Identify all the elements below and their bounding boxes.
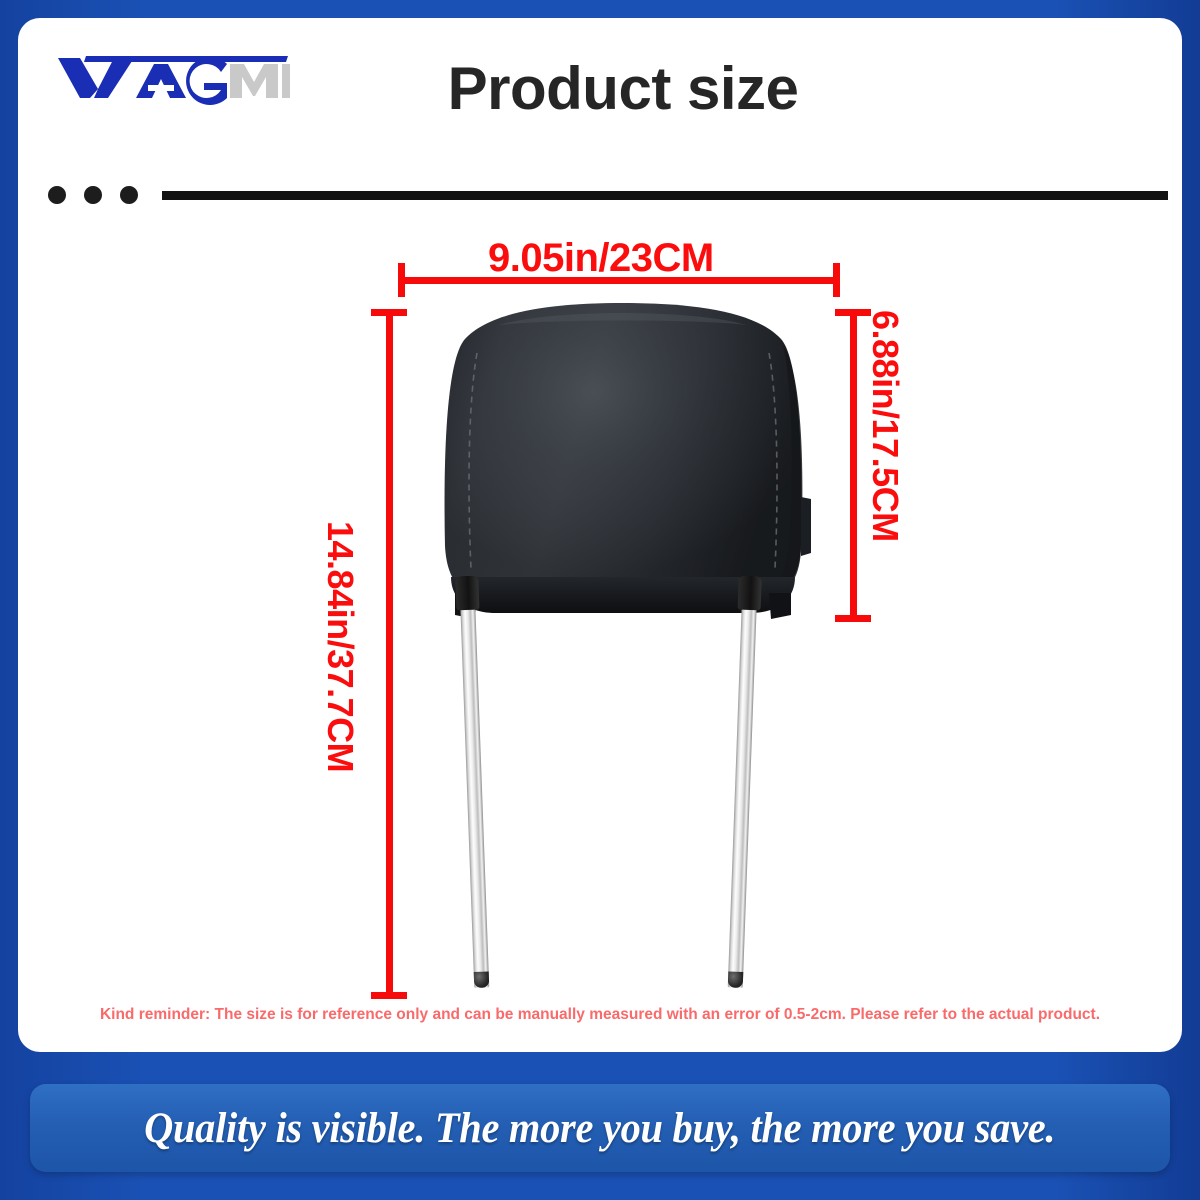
divider-dot: [120, 186, 138, 204]
divider-rule: [162, 191, 1168, 200]
product-measurement-stage: 9.05in/23CM 6.88in/17.5CM 14.84in/37.7CM: [18, 218, 1182, 1008]
dimension-width-line: [398, 277, 840, 284]
content-panel: Product size: [18, 18, 1182, 1052]
vagmeb-logo-icon: [50, 46, 290, 106]
post-tip-left: [474, 971, 490, 988]
post-tip-right: [728, 971, 744, 988]
post-collar-right: [738, 576, 762, 611]
dimension-cushion-line: [850, 309, 857, 622]
brand-logo: [50, 46, 290, 106]
dimension-width-cap-left: [398, 263, 405, 297]
promo-banner-text: Quality is visible. The more you buy, th…: [144, 1104, 1055, 1153]
dimension-total-cap-bottom: [371, 992, 407, 999]
page-title: Product size: [388, 54, 858, 123]
dimension-cushion-cap-bottom: [835, 615, 871, 622]
dimension-width-cap-right: [833, 263, 840, 297]
dimension-cushion-label: 6.88in/17.5CM: [864, 310, 906, 542]
dimension-total-label: 14.84in/37.7CM: [319, 521, 361, 772]
headrest-post-right: [728, 598, 757, 988]
section-divider: [48, 178, 1168, 212]
dimension-total-cap-top: [371, 309, 407, 316]
post-collar-left: [455, 576, 479, 611]
headrest-post-left: [460, 598, 489, 988]
divider-dot: [48, 186, 66, 204]
divider-dot: [84, 186, 102, 204]
infographic-page: Product size: [0, 0, 1200, 1200]
size-disclaimer: Kind reminder: The size is for reference…: [18, 1006, 1182, 1024]
promo-banner: Quality is visible. The more you buy, th…: [30, 1084, 1170, 1172]
dimension-width-label: 9.05in/23CM: [488, 236, 714, 281]
dimension-total-line: [386, 309, 393, 999]
